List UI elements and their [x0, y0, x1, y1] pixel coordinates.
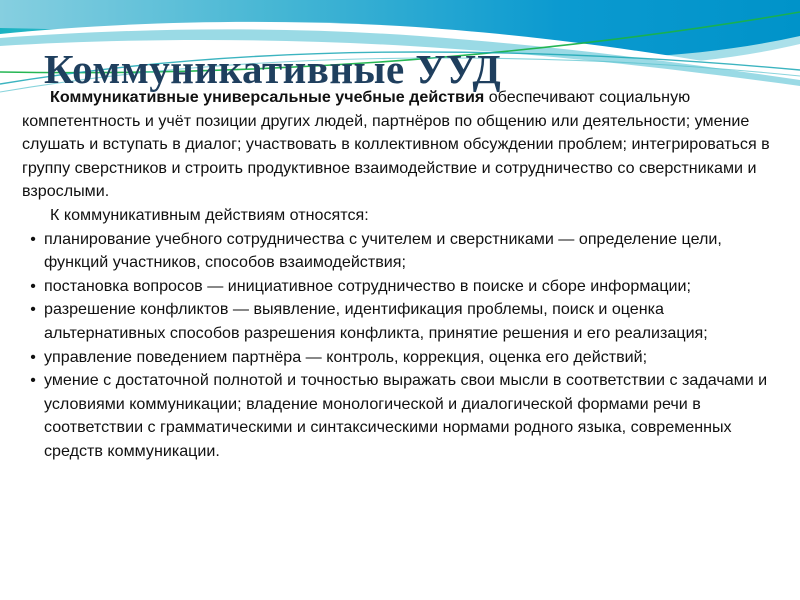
slide-title: Коммуникативные УУД: [44, 45, 764, 93]
list-item-text: разрешение конфликтов — выявление, идент…: [44, 298, 782, 345]
bullet-icon: •: [28, 346, 38, 370]
lead-in-paragraph: К коммуникативным действиям относятся:: [22, 204, 782, 228]
list-item: • планирование учебного сотрудничества с…: [22, 228, 782, 275]
bullet-icon: •: [28, 228, 38, 252]
list-item-text: постановка вопросов — инициативное сотру…: [44, 275, 782, 299]
list-item-text: планирование учебного сотрудничества с у…: [44, 228, 782, 275]
list-item: • управление поведением партнёра — контр…: [22, 346, 782, 370]
list-item: • постановка вопросов — инициативное сот…: [22, 275, 782, 299]
intro-paragraph: Коммуникативные универсальные учебные де…: [22, 86, 782, 204]
list-item: • умение с достаточной полнотой и точнос…: [22, 369, 782, 463]
list-item-text: умение с достаточной полнотой и точность…: [44, 369, 782, 463]
presentation-slide: Коммуникативные УУД Коммуникативные унив…: [0, 0, 800, 600]
bullet-icon: •: [28, 275, 38, 299]
communicative-actions-list: • планирование учебного сотрудничества с…: [22, 228, 782, 464]
bullet-icon: •: [28, 369, 38, 393]
list-item: • разрешение конфликтов — выявление, иде…: [22, 298, 782, 345]
bullet-icon: •: [28, 298, 38, 322]
list-item-text: управление поведением партнёра — контрол…: [44, 346, 782, 370]
slide-body: Коммуникативные универсальные учебные де…: [22, 86, 782, 464]
